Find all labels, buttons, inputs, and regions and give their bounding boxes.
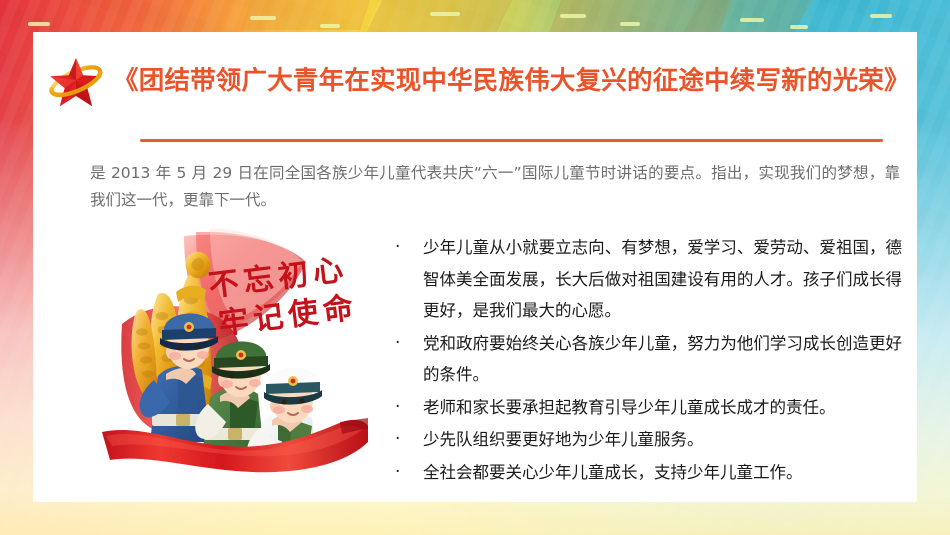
- list-item-text: 党和政府要始终关心各族少年儿童，努力为他们学习成长创造更好的条件。: [423, 328, 902, 391]
- list-item-text: 少年儿童从小就要立志向、有梦想，爱学习、爱劳动、爱祖国，德智体美全面发展，长大后…: [423, 232, 902, 327]
- list-item: · 全社会都要关心少年儿童成长，支持少年儿童工作。: [392, 457, 902, 489]
- bullet-marker: ·: [392, 457, 423, 489]
- bullet-list: · 少年儿童从小就要立志向、有梦想，爱学习、爱劳动、爱祖国，德智体美全面发展，长…: [392, 232, 902, 489]
- list-item-text: 老师和家长要承担起教育引导少年儿童成长成才的责任。: [423, 392, 902, 424]
- list-item-text: 少先队组织要更好地为少年儿童服务。: [423, 424, 902, 456]
- bullet-marker: ·: [392, 232, 423, 264]
- title-underline-rule: [140, 139, 883, 142]
- red-star-with-gold-orbit-icon: [47, 56, 107, 108]
- lead-paragraph: 是 2013 年 5 月 29 日在同全国各族少年儿童代表共庆“六一”国际儿童节…: [90, 160, 900, 214]
- list-item: · 老师和家长要承担起教育引导少年儿童成长成才的责任。: [392, 392, 902, 424]
- list-item-text: 全社会都要关心少年儿童成长，支持少年儿童工作。: [423, 457, 902, 489]
- page-title: 《团结带领广大青年在实现中华民族伟大复兴的征途中续写新的光荣》: [113, 69, 910, 95]
- page-title-row: 《团结带领广大青年在实现中华民族伟大复兴的征途中续写新的光荣》: [47, 56, 910, 108]
- list-item: · 党和政府要始终关心各族少年儿童，努力为他们学习成长创造更好的条件。: [392, 328, 902, 391]
- list-item: · 少先队组织要更好地为少年儿童服务。: [392, 424, 902, 456]
- slide-root: 《团结带领广大青年在实现中华民族伟大复兴的征途中续写新的光荣》 是 2013 年…: [0, 0, 950, 535]
- bullet-marker: ·: [392, 328, 423, 360]
- calligraphy-text: 不忘初心 牢记使命: [207, 252, 360, 342]
- bullet-marker: ·: [392, 392, 423, 424]
- bullet-marker: ·: [392, 424, 423, 456]
- three-saluting-soldiers-illustration: 不忘初心 牢记使命: [92, 228, 374, 480]
- list-item: · 少年儿童从小就要立志向、有梦想，爱学习、爱劳动、爱祖国，德智体美全面发展，长…: [392, 232, 902, 327]
